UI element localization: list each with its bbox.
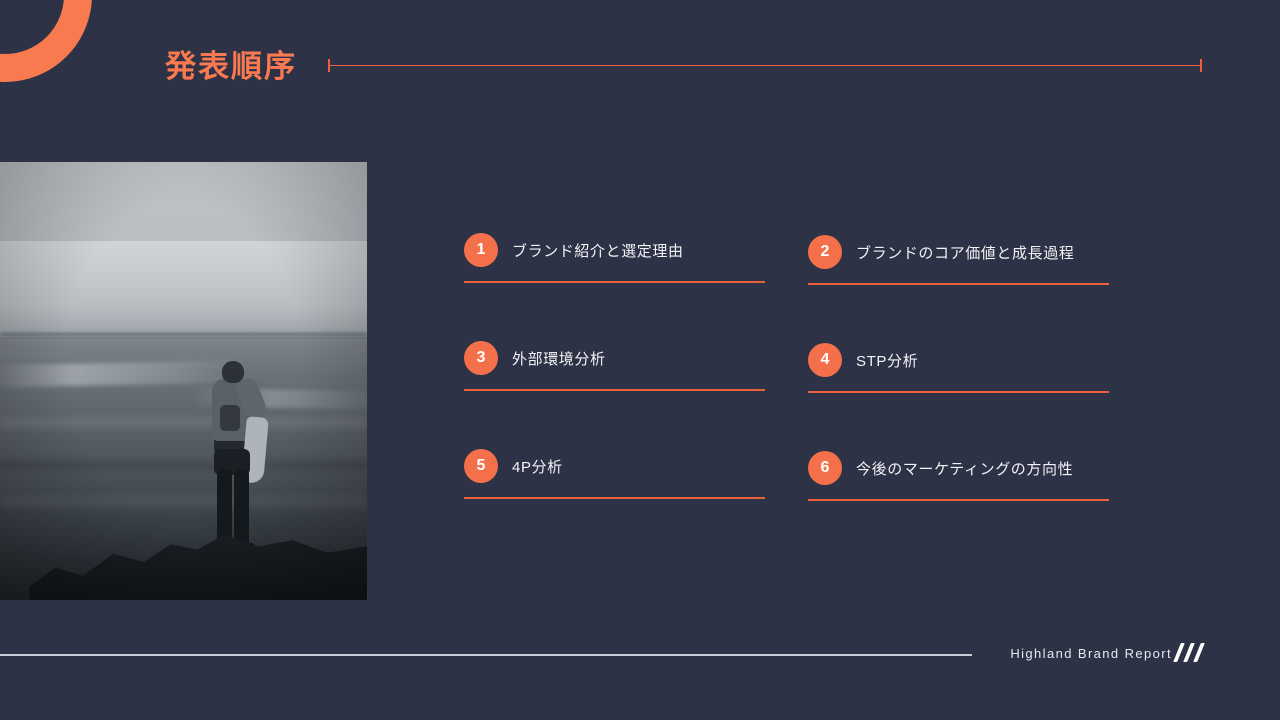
agenda-item-3[interactable]: 3 外部環境分析 bbox=[464, 338, 765, 391]
photo-terrain-band bbox=[0, 416, 367, 429]
agenda-item-underline bbox=[808, 499, 1109, 501]
agenda-item-underline bbox=[464, 281, 765, 283]
presentation-slide: 発表順序 bbox=[0, 0, 1280, 720]
agenda-number-badge: 4 bbox=[808, 343, 842, 377]
agenda-number-badge: 3 bbox=[464, 341, 498, 375]
agenda-item-label: 4P分析 bbox=[512, 456, 563, 477]
agenda-item-underline bbox=[808, 283, 1109, 285]
backpack-pocket bbox=[220, 405, 240, 431]
agenda-item-4[interactable]: 4 STP分析 bbox=[808, 340, 1109, 393]
agenda-row: 3 外部環境分析 4 STP分析 bbox=[464, 338, 1124, 446]
agenda-item-label: STP分析 bbox=[856, 350, 918, 371]
three-slashes-icon bbox=[1175, 643, 1215, 663]
photo-terrain-band bbox=[0, 495, 367, 508]
corner-ring-decoration bbox=[0, 0, 92, 82]
hiker-leg bbox=[234, 469, 249, 547]
agenda-item-label: 外部環境分析 bbox=[512, 348, 606, 369]
agenda-item-head: 3 外部環境分析 bbox=[464, 338, 765, 378]
agenda-item-6[interactable]: 6 今後のマーケティングの方向性 bbox=[808, 448, 1109, 501]
footer-divider bbox=[0, 654, 972, 656]
agenda-item-label: 今後のマーケティングの方向性 bbox=[856, 458, 1073, 479]
agenda-item-head: 6 今後のマーケティングの方向性 bbox=[808, 448, 1109, 488]
agenda-item-5[interactable]: 5 4P分析 bbox=[464, 446, 765, 499]
agenda-row: 1 ブランド紹介と選定理由 2 ブランドのコア価値と成長過程 bbox=[464, 230, 1124, 338]
agenda-item-head: 1 ブランド紹介と選定理由 bbox=[464, 230, 765, 270]
slash-stroke bbox=[1193, 643, 1205, 662]
agenda-item-head: 5 4P分析 bbox=[464, 446, 765, 486]
agenda-row: 5 4P分析 6 今後のマーケティングの方向性 bbox=[464, 446, 1124, 554]
agenda-item-underline bbox=[464, 497, 765, 499]
agenda-number-badge: 5 bbox=[464, 449, 498, 483]
agenda-item-1[interactable]: 1 ブランド紹介と選定理由 bbox=[464, 230, 765, 283]
agenda-number-badge: 6 bbox=[808, 451, 842, 485]
agenda-item-label: ブランド紹介と選定理由 bbox=[512, 240, 684, 261]
agenda-item-head: 4 STP分析 bbox=[808, 340, 1109, 380]
agenda-item-2[interactable]: 2 ブランドのコア価値と成長過程 bbox=[808, 232, 1109, 285]
footer-label: Highland Brand Report bbox=[1010, 646, 1172, 661]
hiker-figure bbox=[196, 361, 272, 561]
agenda-item-label: ブランドのコア価値と成長過程 bbox=[856, 242, 1074, 263]
agenda-list: 1 ブランド紹介と選定理由 2 ブランドのコア価値と成長過程 3 外部環境分析 bbox=[464, 230, 1124, 554]
hiker-summit-photo bbox=[0, 162, 367, 600]
agenda-item-underline bbox=[464, 389, 765, 391]
agenda-number-badge: 2 bbox=[808, 235, 842, 269]
title-rule-divider bbox=[328, 65, 1202, 66]
agenda-number-badge: 1 bbox=[464, 233, 498, 267]
page-title: 発表順序 bbox=[165, 45, 297, 89]
photo-terrain-band bbox=[0, 460, 367, 471]
agenda-item-underline bbox=[808, 391, 1109, 393]
agenda-item-head: 2 ブランドのコア価値と成長過程 bbox=[808, 232, 1109, 272]
photo-horizon-ridge bbox=[0, 333, 367, 336]
